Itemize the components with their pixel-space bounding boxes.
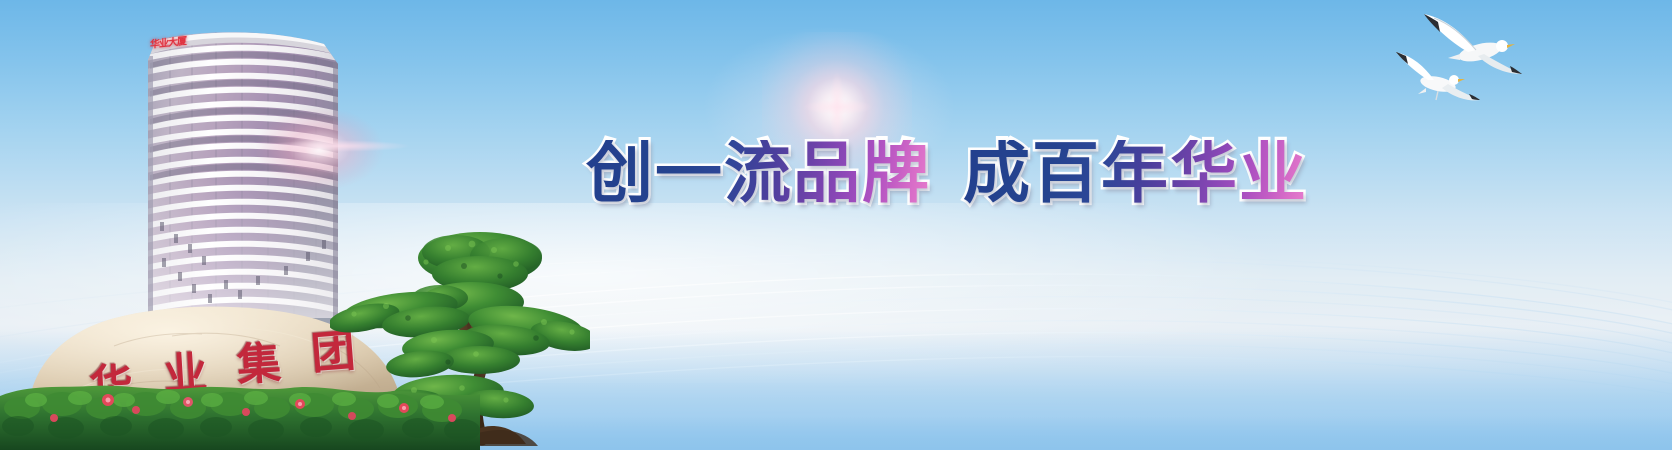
slogan-part-one: 创一流品牌: [586, 140, 931, 207]
corporate-hero-banner: 华业大厦: [0, 0, 1672, 450]
headquarters-tower: [138, 26, 346, 318]
slogan-headline: 创一流品牌 成百年华业: [586, 131, 1356, 215]
slogan-part-two: 成百年华业: [963, 140, 1308, 207]
flowering-hedge: [0, 378, 480, 450]
flying-seagulls: [1376, 6, 1556, 116]
seagull-upper: [1424, 14, 1522, 74]
